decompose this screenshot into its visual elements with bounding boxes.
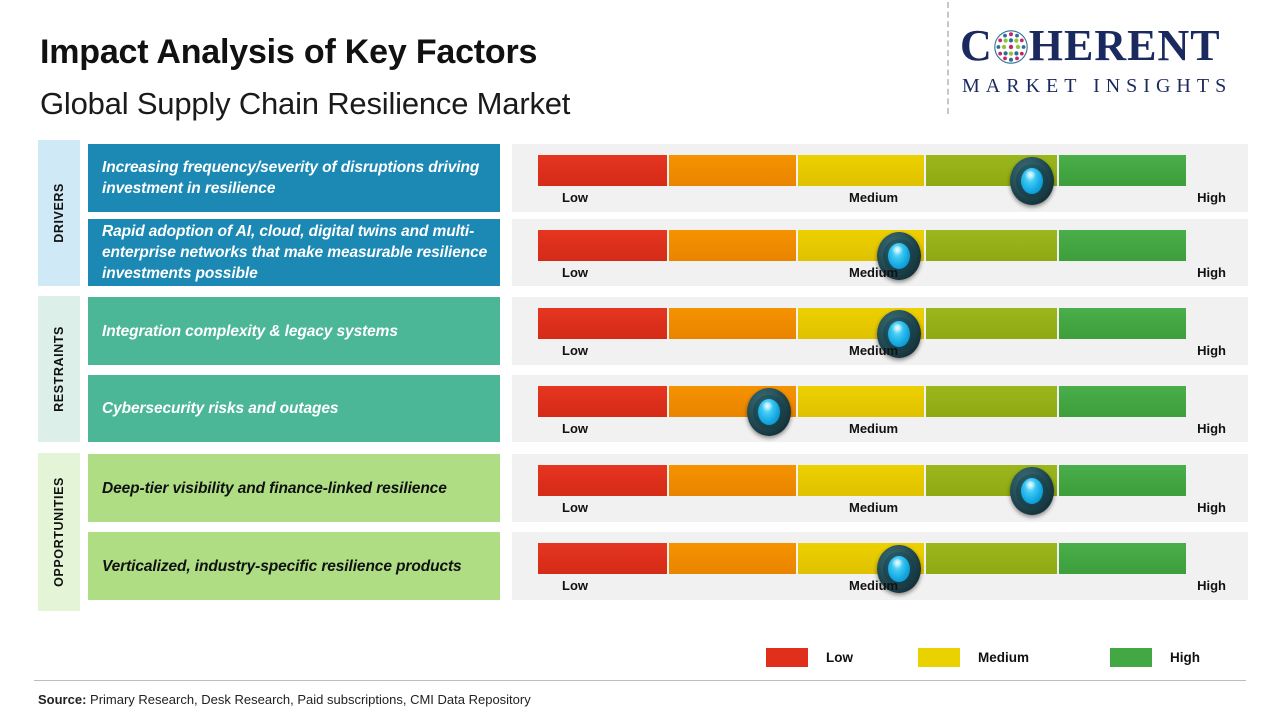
gauge-scale-labels: Low Medium High: [538, 265, 1226, 283]
scale-label-medium: Medium: [849, 500, 898, 515]
logo-letters-herent: HERENT: [1029, 21, 1221, 70]
scale-label-low: Low: [562, 343, 588, 358]
gauge-segment-low: [538, 230, 667, 261]
source-prefix: Source:: [38, 692, 86, 707]
gauge-panel-restraint-2[interactable]: Low Medium High: [512, 375, 1248, 442]
gauge-bar: [538, 386, 1188, 417]
gauge-segment-low: [538, 308, 667, 339]
category-band-restraints: RESTRAINTS: [38, 296, 80, 442]
gauge-segment-low: [538, 155, 667, 186]
gauge-segment-low: [538, 543, 667, 574]
scale-label-medium: Medium: [849, 421, 898, 436]
gauge-segment-medium: [798, 386, 925, 417]
logo-letter-c: C: [960, 22, 993, 70]
legend-label-medium: Medium: [978, 650, 1029, 665]
scale-label-high: High: [1197, 190, 1226, 205]
legend-swatch-low: [766, 648, 808, 667]
category-band-opportunities: OPPORTUNITIES: [38, 453, 80, 611]
scale-label-low: Low: [562, 265, 588, 280]
legend-item-low: Low: [766, 644, 853, 670]
page-header: Impact Analysis of Key Factors Global Su…: [0, 0, 1280, 130]
factor-label: Verticalized, industry-specific resilien…: [102, 556, 462, 577]
gauge-segment-low-medium: [669, 230, 796, 261]
factor-box-restraint-1[interactable]: Integration complexity & legacy systems: [88, 297, 500, 365]
header-divider: [947, 2, 949, 114]
source-text: Primary Research, Desk Research, Paid su…: [86, 692, 530, 707]
gauge-segment-low: [538, 386, 667, 417]
gauge-panel-opportunity-1[interactable]: Low Medium High: [512, 454, 1248, 522]
gauge-segment-medium: [798, 465, 925, 496]
factor-box-opportunity-2[interactable]: Verticalized, industry-specific resilien…: [88, 532, 500, 600]
gauge-panel-driver-1[interactable]: Low Medium High: [512, 144, 1248, 212]
impact-matrix: DRIVERS RESTRAINTS OPPORTUNITIES Increas…: [0, 140, 1280, 612]
gauge-bar: [538, 155, 1188, 186]
legend-swatch-high: [1110, 648, 1152, 667]
legend-item-medium: Medium: [918, 644, 1029, 670]
gauge-bar: [538, 230, 1188, 261]
gauge-segment-high: [1059, 230, 1186, 261]
gauge-scale-labels: Low Medium High: [538, 343, 1226, 361]
scale-label-low: Low: [562, 190, 588, 205]
scale-label-medium: Medium: [849, 190, 898, 205]
footer-divider: [34, 680, 1246, 681]
page-title: Impact Analysis of Key Factors: [40, 33, 537, 72]
logo-wordmark: C: [960, 22, 1265, 70]
legend-label-high: High: [1170, 650, 1200, 665]
factor-box-restraint-2[interactable]: Cybersecurity risks and outages: [88, 375, 500, 442]
gauge-scale-labels: Low Medium High: [538, 190, 1226, 208]
gauge-segment-high: [1059, 465, 1186, 496]
gauge-segment-low: [538, 465, 667, 496]
category-label-drivers: DRIVERS: [52, 183, 66, 243]
gauge-panel-restraint-1[interactable]: Low Medium High: [512, 297, 1248, 365]
gauge-segment-low-medium: [669, 465, 796, 496]
gauge-segment-medium-high: [926, 386, 1057, 417]
gauge-segment-medium: [798, 155, 925, 186]
scale-label-medium: Medium: [849, 343, 898, 358]
gauge-segment-low-medium: [669, 308, 796, 339]
gauge-segment-low-medium: [669, 543, 796, 574]
gauge-scale-labels: Low Medium High: [538, 500, 1226, 518]
factor-box-driver-1[interactable]: Increasing frequency/severity of disrupt…: [88, 144, 500, 212]
gauge-scale-labels: Low Medium High: [538, 421, 1226, 439]
scale-label-high: High: [1197, 265, 1226, 280]
source-note: Source: Primary Research, Desk Research,…: [38, 692, 531, 707]
gauge-bar: [538, 308, 1188, 339]
legend-item-high: High: [1110, 644, 1200, 670]
gauge-segment-medium-high: [926, 230, 1057, 261]
gauge-segment-high: [1059, 155, 1186, 186]
gauge-segment-high: [1059, 308, 1186, 339]
scale-label-low: Low: [562, 578, 588, 593]
factor-label: Increasing frequency/severity of disrupt…: [102, 157, 488, 199]
scale-label-high: High: [1197, 578, 1226, 593]
scale-label-high: High: [1197, 500, 1226, 515]
gauge-bar: [538, 543, 1188, 574]
globe-dots-icon: [994, 26, 1028, 60]
gauge-segment-medium-high: [926, 543, 1057, 574]
company-logo: C: [960, 22, 1265, 110]
chart-legend: Low Medium High: [760, 644, 1220, 670]
gauge-scale-labels: Low Medium High: [538, 578, 1226, 596]
gauge-segment-medium-high: [926, 308, 1057, 339]
scale-label-medium: Medium: [849, 578, 898, 593]
scale-label-low: Low: [562, 421, 588, 436]
scale-label-medium: Medium: [849, 265, 898, 280]
factor-box-driver-2[interactable]: Rapid adoption of AI, cloud, digital twi…: [88, 219, 500, 286]
gauge-bar: [538, 465, 1188, 496]
factor-label: Rapid adoption of AI, cloud, digital twi…: [102, 221, 488, 284]
factor-label: Integration complexity & legacy systems: [102, 321, 398, 342]
gauge-panel-driver-2[interactable]: Low Medium High: [512, 219, 1248, 286]
scale-label-low: Low: [562, 500, 588, 515]
factor-label: Deep-tier visibility and finance-linked …: [102, 478, 447, 499]
scale-label-high: High: [1197, 343, 1226, 358]
gauge-segment-low-medium: [669, 155, 796, 186]
gauge-segment-high: [1059, 543, 1186, 574]
factor-box-opportunity-1[interactable]: Deep-tier visibility and finance-linked …: [88, 454, 500, 522]
legend-label-low: Low: [826, 650, 853, 665]
legend-swatch-medium: [918, 648, 960, 667]
category-label-opportunities: OPPORTUNITIES: [52, 477, 66, 587]
gauge-segment-high: [1059, 386, 1186, 417]
category-label-restraints: RESTRAINTS: [52, 326, 66, 412]
gauge-panel-opportunity-2[interactable]: Low Medium High: [512, 532, 1248, 600]
logo-tagline: MARKET INSIGHTS: [962, 75, 1265, 98]
factor-label: Cybersecurity risks and outages: [102, 398, 338, 419]
category-band-drivers: DRIVERS: [38, 140, 80, 286]
scale-label-high: High: [1197, 421, 1226, 436]
page-subtitle: Global Supply Chain Resilience Market: [40, 86, 570, 122]
